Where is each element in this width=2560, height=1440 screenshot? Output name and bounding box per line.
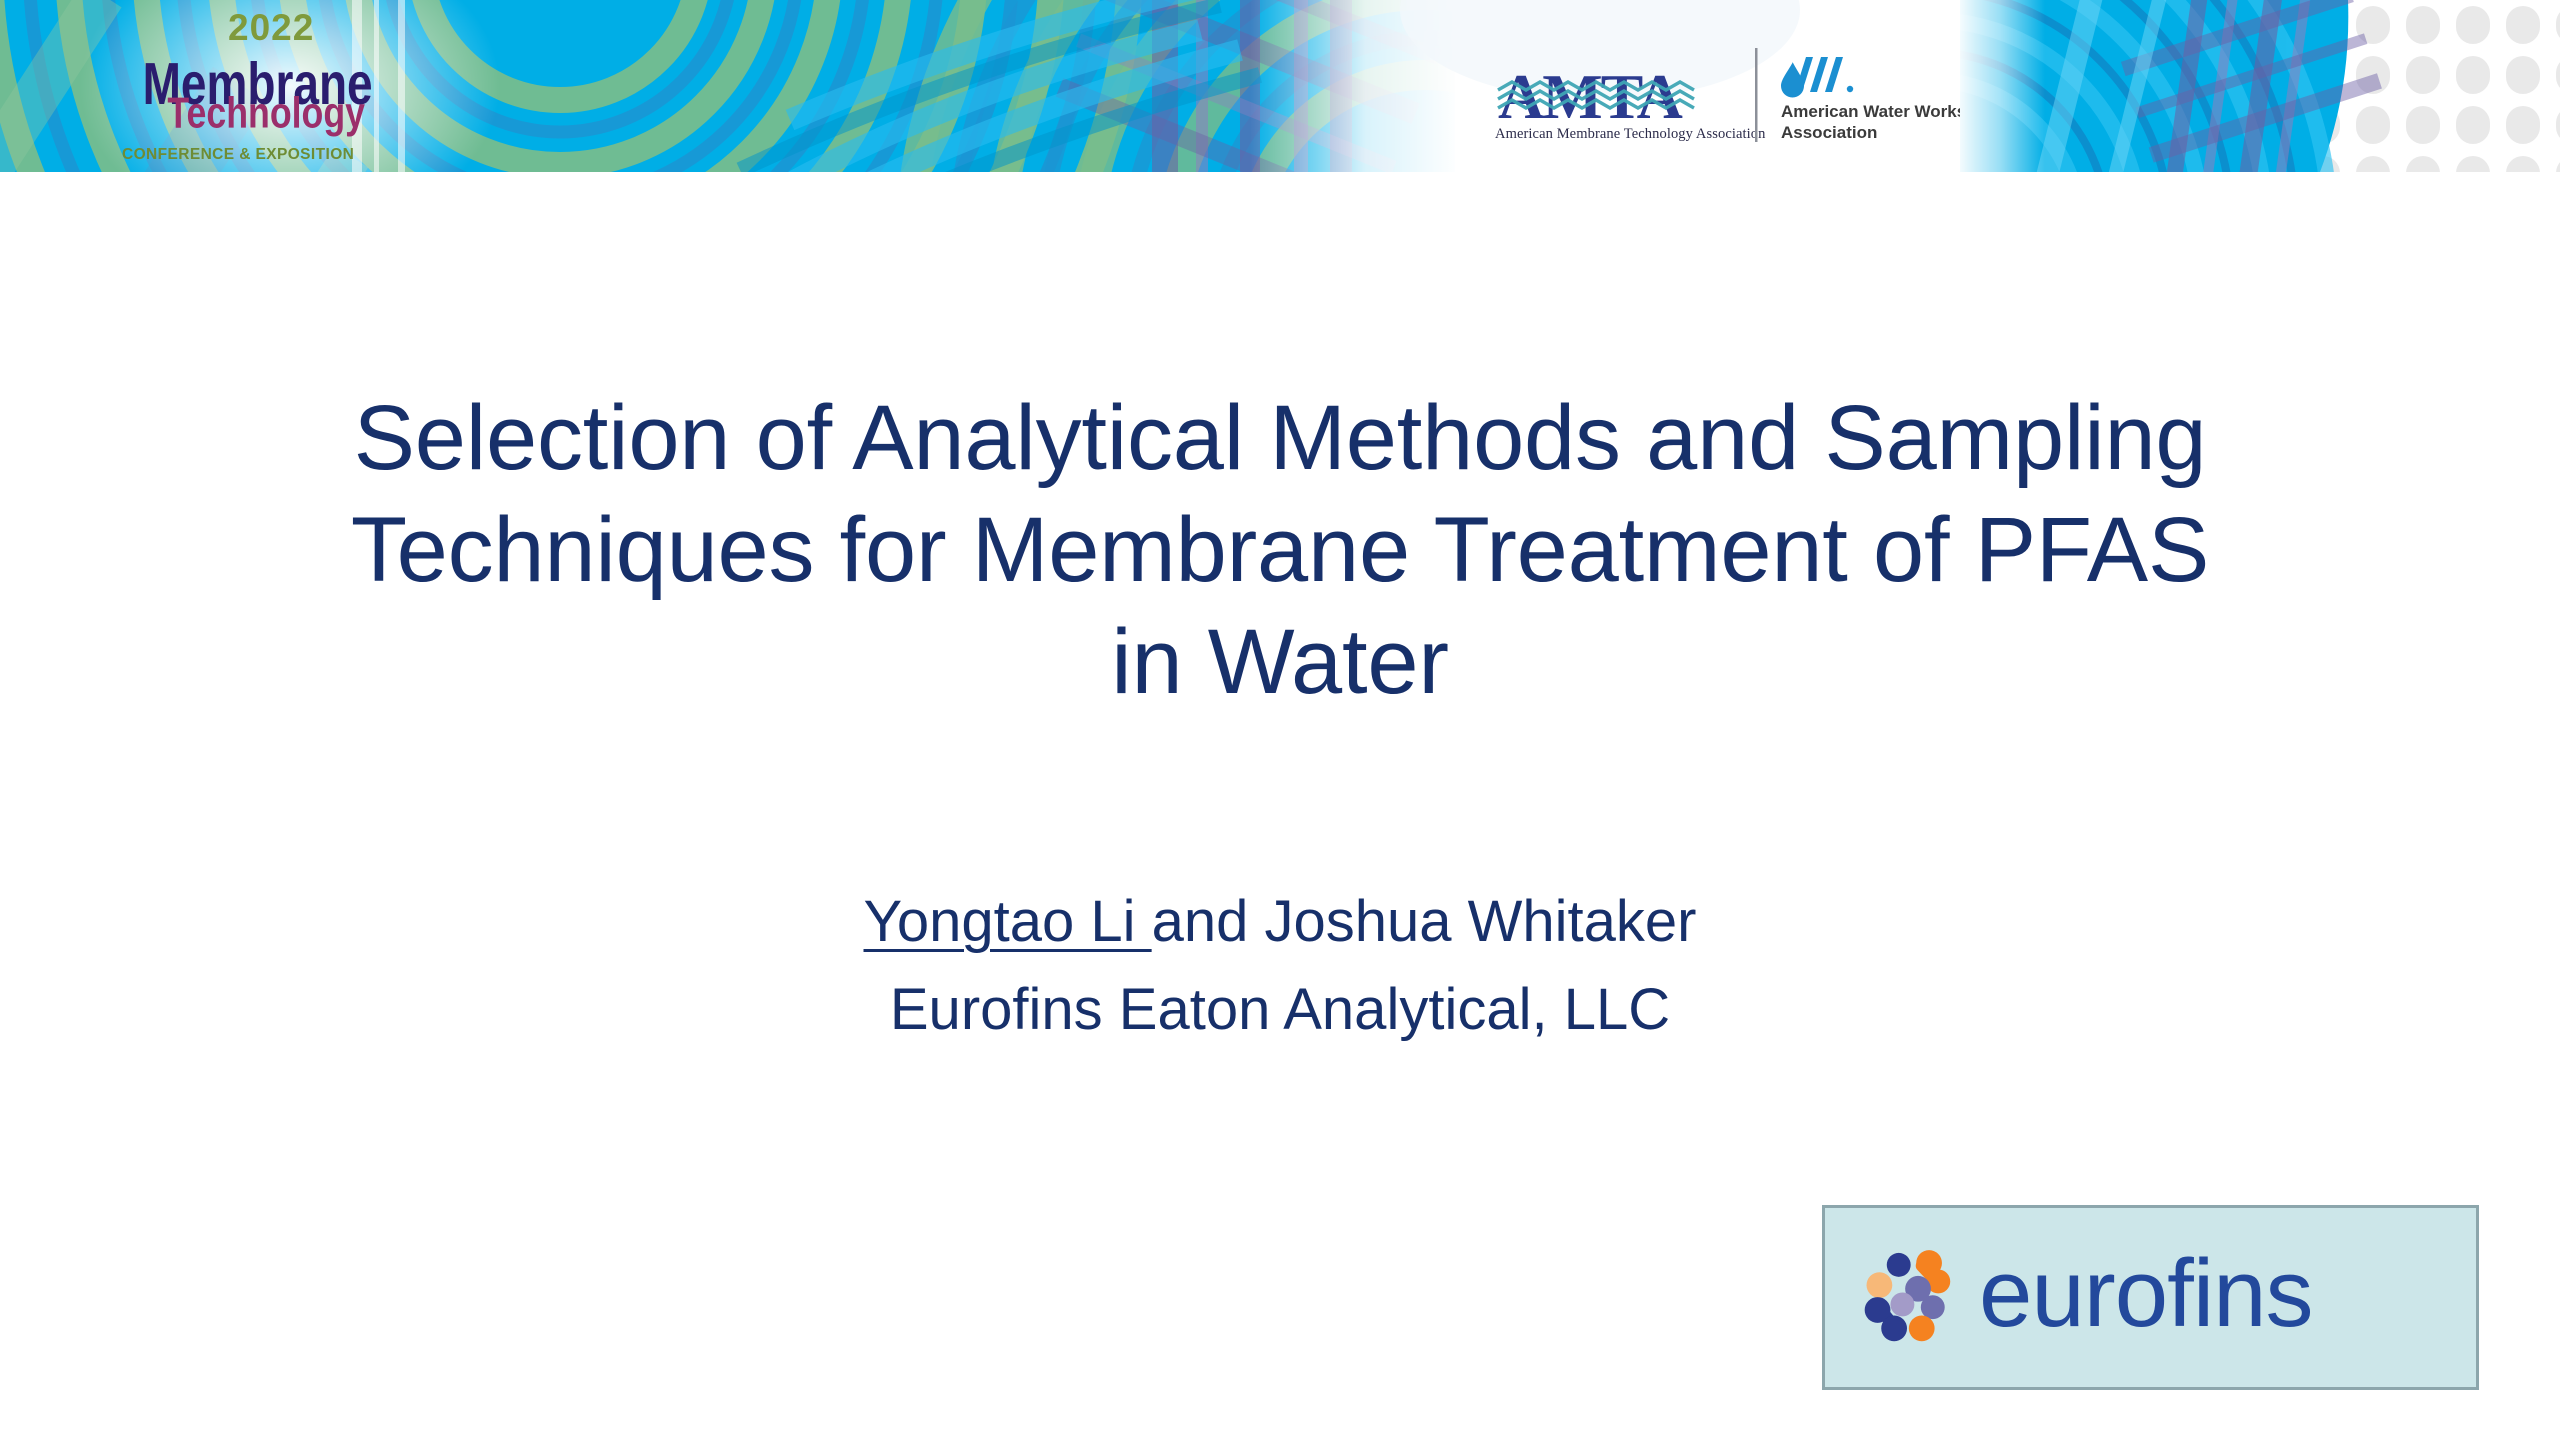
presenter-name: Yongtao Li bbox=[864, 889, 1152, 954]
logo-divider bbox=[1755, 48, 1758, 142]
header-banner: 2022 Membrane Technology CONFERENCE & EX… bbox=[0, 0, 2560, 178]
dot-periwinkle-lowright bbox=[1921, 1295, 1945, 1319]
title-line-3: in Water bbox=[130, 606, 2430, 718]
amta-acronym: AMTA bbox=[1498, 61, 1683, 132]
slide-root: 2022 Membrane Technology CONFERENCE & EX… bbox=[0, 0, 2560, 1440]
conference-name-line2: Technology bbox=[167, 89, 365, 137]
banner-artwork: 2022 Membrane Technology CONFERENCE & EX… bbox=[0, 0, 2560, 178]
eurofins-logo-box: eurofins bbox=[1822, 1205, 2479, 1390]
eurofins-wordmark: eurofins bbox=[1979, 1246, 2313, 1342]
author-names-line: Yongtao Li and Joshua Whitaker bbox=[130, 878, 2430, 966]
title-line-1: Selection of Analytical Methods and Samp… bbox=[130, 382, 2430, 494]
amta-subtitle: American Membrane Technology Association bbox=[1495, 126, 1766, 142]
eurofins-molecule-icon bbox=[1861, 1250, 1953, 1346]
title-line-2: Techniques for Membrane Treatment of PFA… bbox=[130, 494, 2430, 606]
dot-lightorange-left bbox=[1867, 1272, 1893, 1298]
dot-navy-bottom bbox=[1881, 1315, 1907, 1341]
awwa-name-line1: American Water Works bbox=[1781, 102, 1966, 121]
dot-navy-top bbox=[1887, 1252, 1911, 1276]
awwa-name-line2: Association bbox=[1781, 123, 1877, 142]
author-block: Yongtao Li and Joshua Whitaker Eurofins … bbox=[130, 878, 2430, 1054]
slide-title: Selection of Analytical Methods and Samp… bbox=[130, 382, 2430, 719]
conference-year: 2022 bbox=[228, 7, 314, 48]
coauthor-name: and Joshua Whitaker bbox=[1152, 889, 1697, 954]
affiliation: Eurofins Eaton Analytical, LLC bbox=[130, 966, 2430, 1054]
dot-lavender-center bbox=[1890, 1292, 1914, 1316]
conference-tagline: CONFERENCE & EXPOSITION bbox=[122, 146, 354, 163]
dot-orange-bottom bbox=[1909, 1315, 1935, 1341]
